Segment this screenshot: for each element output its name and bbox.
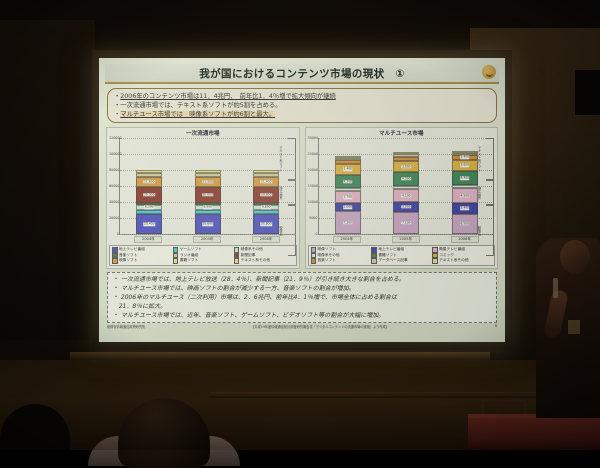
bar-segment: 11,600: [136, 177, 162, 186]
category-brackets: テキスト系ソフト静止画系映像系: [289, 138, 298, 254]
bar-value-label: 4,300: [401, 177, 411, 180]
x-axis-tick: 2004年: [134, 236, 162, 243]
bar-value-label: 3,400: [343, 168, 353, 171]
y-axis-tick: 40000: [109, 200, 119, 204]
legend-label: データベース記事: [378, 258, 407, 264]
bar-value-label: 25,800: [261, 222, 273, 225]
podium: [468, 418, 600, 450]
bar-segment: 4,500: [452, 188, 478, 202]
legend-item[interactable]: 書籍ソフト: [173, 258, 233, 264]
charts-row: 一次流通市場 120000100000800006000040000200000…: [106, 127, 498, 269]
lead-bullet-1: ・2006年のコンテンツ市場は11．4兆円、 前年比1．4％増で拡大傾向が継続: [114, 92, 490, 101]
bracket-label: 映像系: [477, 226, 482, 236]
bar-segment: 4,200: [335, 175, 361, 188]
bar-segment: 3,600: [452, 160, 478, 172]
y-axis-tick: 10000: [308, 200, 318, 204]
y-axis-tick: 0: [308, 232, 318, 236]
legend-item[interactable]: テキスト系その他: [234, 258, 294, 264]
bar-value-label: 4,200: [343, 180, 353, 183]
projection-screen: 我が国におけるコンテンツ市場の現状 ① ・2006年のコンテンツ市場は11．4兆…: [99, 58, 505, 342]
lecture-room-scene: 我が国におけるコンテンツ市場の現状 ① ・2006年のコンテンツ市場は11．4兆…: [0, 0, 600, 450]
bar-value-label: 6,500: [460, 222, 470, 225]
bar-segment: 19,900: [253, 187, 279, 203]
x-axis-labels-right: 2004年2005年2006年: [318, 236, 495, 243]
stacked-bar[interactable]: 3,5004,3004,1003,0007,100: [393, 138, 419, 234]
bracket-label: テキスト系ソフト: [279, 146, 284, 172]
lead-bullets-box: ・2006年のコンテンツ市場は11．4兆円、 前年比1．4％増で拡大傾向が継続 …: [107, 88, 497, 123]
bar-value-label: 20,000: [202, 193, 214, 196]
bar-value-label: 7,200: [343, 221, 353, 224]
x-axis-tick: 2004年: [333, 236, 361, 243]
bar-segment: 3,500: [393, 161, 419, 172]
legend-swatch: [311, 258, 317, 264]
bar-value-label: 3,400: [460, 206, 470, 209]
source-right: 【平成19年度情報通信統計調査研究報告書「デジタルコンテンツの流通市場の実態」よ…: [251, 324, 389, 329]
gridline: [120, 234, 296, 235]
x-axis-labels-left: 2004年2005年2006年: [119, 236, 296, 243]
plot-area-left: 12000010000080000600004000020000011,6002…: [119, 138, 296, 235]
y-axis-tick: 30000: [308, 136, 318, 140]
y-axis-tick: 60000: [109, 184, 119, 188]
bar-segment: 4,100: [393, 189, 419, 202]
bracket: テキスト系ソフト: [288, 138, 296, 179]
bar-value-label: 6,300: [144, 206, 154, 209]
bar-segment: 4,300: [393, 172, 419, 186]
legend-swatch: [371, 258, 377, 264]
bar-value-label: 11,500: [202, 180, 214, 183]
note-bullet-2: ・ マルチユース市場では、映画ソフトの割合が減少する一方、音楽ソフトの割合が増加…: [113, 284, 491, 293]
legend-swatch: [234, 258, 240, 264]
bar-segment: 7,200: [335, 211, 361, 234]
chart-primary-distribution: 一次流通市場 120000100000800006000040000200000…: [106, 127, 300, 269]
legend-label: テキスト系その他: [439, 258, 468, 264]
bar-segment: 2,600: [335, 203, 361, 211]
bar-value-label: 25,600: [202, 222, 214, 225]
stacked-bar[interactable]: 11,40019,9006,60025,800: [253, 138, 279, 234]
y-axis-tick: 0: [109, 232, 119, 236]
bar-segment: 11,500: [195, 177, 221, 186]
bracket: 映像系: [288, 205, 296, 256]
bar-value-label: 6,500: [203, 206, 213, 209]
page-title: 我が国におけるコンテンツ市場の現状 ①: [199, 66, 405, 81]
organization-logo-icon: [482, 65, 496, 79]
bar-segment: 4,400: [452, 171, 478, 185]
room-wall-left: [0, 20, 95, 340]
chart-title-left: 一次流通市場: [107, 128, 299, 137]
bar-segment: 3,000: [393, 202, 419, 212]
legend-item[interactable]: 映像ソフト: [112, 258, 172, 264]
bracket: 映像系: [486, 205, 494, 256]
note-bullet-1: ・ 一次流通市場では、地上テレビ放送（28．4％）、新聞記事（21．9％）が引き…: [113, 275, 491, 284]
wall-ledge-lower: [210, 392, 540, 398]
bar-value-label: 3,600: [460, 164, 470, 167]
bar-value-label: 25,400: [144, 223, 156, 226]
bar-segment: 3,700: [335, 191, 361, 203]
bar-value-label: 3,000: [401, 205, 411, 208]
y-axis-tick: 80000: [109, 168, 119, 172]
y-axis-tick: 100000: [109, 152, 119, 156]
legend-label: 音楽ソフト: [318, 258, 336, 264]
gridline: [319, 234, 495, 235]
bar-segment: 20,300: [136, 187, 162, 203]
source-left: 総務省情報通信政策研究所: [107, 324, 145, 329]
bar-segment: 25,400: [136, 214, 162, 234]
presenter-head: [560, 240, 590, 274]
bracket-label: 静止画系: [477, 186, 482, 199]
bar-value-label: 19,900: [261, 193, 273, 196]
presenter-badge: [568, 320, 580, 334]
dark-window: [575, 70, 600, 115]
bar-value-label: 7,100: [401, 221, 411, 224]
chart-title-right: マルチユース市場: [306, 128, 498, 137]
wall-ledge-upper: [70, 352, 490, 360]
bracket-label: テキスト系ソフト: [477, 146, 482, 172]
legend-label: 映像ソフト: [119, 258, 137, 264]
bracket: 静止画系: [288, 180, 296, 205]
note-bullet-4: ・ マルチユース市場では、近年、音楽ソフト、ゲームソフト、ビデオソフト等の割合が…: [113, 311, 491, 320]
y-axis-tick: 15000: [308, 184, 318, 188]
microphone-icon: [553, 278, 558, 298]
x-axis-tick: 2006年: [252, 236, 280, 243]
x-axis-tick: 2006年: [451, 236, 479, 243]
bar-segment: 25,800: [253, 214, 279, 235]
chart-legend-left: 地上テレビ番組ゲームソフト映像系その他音楽ソフトラジオ番組新聞記事映像ソフト書籍…: [109, 245, 297, 266]
bar-segment: 3,400: [452, 203, 478, 214]
x-axis-tick: 2005年: [392, 236, 420, 243]
y-axis-tick: 20000: [109, 216, 119, 220]
bar-value-label: 4,400: [460, 176, 470, 179]
stacked-bar[interactable]: 3,4004,2003,7002,6007,200: [335, 138, 361, 234]
presentation-slide: 我が国におけるコンテンツ市場の現状 ① ・2006年のコンテンツ市場は11．4兆…: [99, 58, 505, 342]
bar-segment: 6,500: [452, 214, 478, 235]
y-axis-tick: 120000: [109, 136, 119, 140]
lead-bullet-3: ・マルチユース市場では 映像系ソフトが約6割と最大。: [114, 110, 490, 119]
bracket-label: 映像系: [279, 226, 284, 236]
slide-source-line: 総務省情報通信政策研究所 【平成19年度情報通信統計調査研究報告書「デジタルコン…: [107, 324, 497, 329]
bar-value-label: 3,700: [343, 195, 353, 198]
legend-swatch: [173, 258, 179, 264]
bar-segment: 25,600: [195, 214, 221, 234]
bar-value-label: 11,600: [144, 180, 156, 183]
bar-value-label: 3,500: [401, 165, 411, 168]
bracket-label: 静止画系: [279, 186, 284, 199]
bar-value-label: 11,400: [261, 180, 273, 183]
legend-item[interactable]: テキスト系その他: [432, 258, 492, 264]
bar-segment: 3,400: [335, 164, 361, 175]
legend-swatch: [112, 258, 118, 264]
legend-label: テキスト系その他: [241, 258, 270, 264]
stacked-bar[interactable]: 11,50020,0006,50025,600: [195, 138, 221, 234]
lead-bullet-2: ・一次流通市場では、テキスト系ソフトが約5割を占める。: [114, 101, 490, 110]
notes-box: ・ 一次流通市場では、地上テレビ放送（28．4％）、新聞記事（21．9％）が引き…: [107, 272, 497, 323]
stacked-bar[interactable]: 1,4003,6004,4004,5003,4006,500: [452, 138, 478, 234]
bar-value-label: 6,600: [261, 206, 271, 209]
note-bullet-3: ・ 2006年のマルチユース（二次利用）市場は、2．6兆円、前年比4．1％増で、…: [113, 293, 491, 302]
legend-swatch: [432, 258, 438, 264]
bracket: 静止画系: [486, 180, 494, 205]
bar-value-label: 1,400: [460, 156, 470, 159]
y-axis-tick: 20000: [308, 168, 318, 172]
y-axis-tick: 25000: [308, 152, 318, 156]
bar-segment: 11,400: [253, 177, 279, 186]
note-bullet-3-cont: 21．8％に拡大。: [113, 302, 491, 311]
bar-value-label: 2,600: [343, 205, 353, 208]
legend-item[interactable]: 音楽ソフト: [311, 258, 371, 264]
bar-value-label: 4,500: [460, 194, 470, 197]
category-brackets: テキスト系ソフト静止画系映像系: [487, 138, 496, 254]
plot-area-right: 3000025000200001500010000500003,4004,200…: [318, 138, 495, 235]
chart-legend-right: 映像ソフト地上テレビ番組衛星テレビ番組映像系その他書籍ソフトコミック音楽ソフトデ…: [308, 245, 496, 266]
chart-multi-use: マルチユース市場 3000025000200001500010000500003…: [305, 127, 499, 269]
bar-segment: 7,100: [393, 212, 419, 235]
x-axis-tick: 2005年: [193, 236, 221, 243]
y-axis-tick: 5000: [308, 216, 318, 220]
slide-title-bar: 我が国におけるコンテンツ市場の現状 ①: [105, 64, 499, 84]
page-number: 6: [495, 324, 497, 329]
legend-label: 書籍ソフト: [180, 258, 198, 264]
bar-value-label: 20,300: [144, 193, 156, 196]
stacked-bar[interactable]: 11,60020,3006,30025,400: [136, 138, 162, 234]
bar-value-label: 4,100: [401, 194, 411, 197]
bar-segment: 20,000: [195, 187, 221, 203]
legend-item[interactable]: データベース記事: [371, 258, 431, 264]
bracket: テキスト系ソフト: [486, 138, 494, 179]
